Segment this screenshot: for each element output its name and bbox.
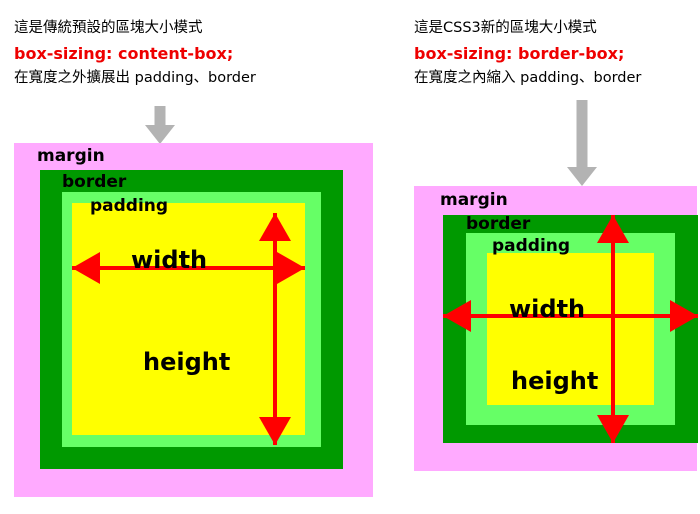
label-border: border [62, 173, 126, 192]
measure-height-down-arrowhead [259, 417, 291, 445]
measure-width-label: width [131, 247, 207, 273]
measure-height-line [273, 213, 277, 445]
caption-code-declaration: box-sizing: border-box; [414, 41, 641, 66]
caption-code-declaration: box-sizing: content-box; [14, 41, 256, 66]
measure-height-down-arrowhead [597, 415, 629, 443]
label-padding: padding [90, 197, 168, 216]
measure-width-left-arrowhead [443, 300, 471, 332]
measure-width-right-arrowhead [670, 300, 698, 332]
measure-width-label: width [509, 296, 585, 322]
label-border: border [466, 215, 530, 234]
panel-content-box: 這是傳統預設的區塊大小模式 box-sizing: content-box; 在… [0, 0, 400, 514]
down-arrow-head [567, 167, 597, 186]
down-arrow-shaft [577, 100, 588, 170]
measure-height [596, 215, 630, 443]
measure-height-label: height [511, 368, 598, 394]
down-arrow-icon [140, 106, 180, 144]
measure-height-line [611, 215, 615, 443]
label-margin: margin [37, 147, 105, 166]
box-model-content-box: margin border padding width height [14, 143, 373, 497]
measure-height-up-arrowhead [597, 215, 629, 243]
measure-height-label: height [143, 349, 230, 375]
down-arrow-icon [562, 100, 602, 186]
caption-line-1: 這是傳統預設的區塊大小模式 [14, 16, 256, 41]
label-padding: padding [492, 237, 570, 256]
caption-content-box: 這是傳統預設的區塊大小模式 box-sizing: content-box; 在… [14, 16, 256, 91]
caption-line-3: 在寬度之內縮入 padding、border [414, 66, 641, 91]
down-arrow-head [145, 125, 175, 144]
caption-border-box: 這是CSS3新的區塊大小模式 box-sizing: border-box; 在… [414, 16, 641, 91]
measure-height-up-arrowhead [259, 213, 291, 241]
box-model-border-box: margin border padding width height [414, 186, 697, 471]
caption-line-3: 在寬度之外擴展出 padding、border [14, 66, 256, 91]
measure-height [258, 213, 292, 445]
panel-border-box: 這是CSS3新的區塊大小模式 box-sizing: border-box; 在… [400, 0, 700, 514]
caption-line-1: 這是CSS3新的區塊大小模式 [414, 16, 641, 41]
measure-width-left-arrowhead [72, 252, 100, 284]
label-margin: margin [440, 191, 508, 210]
